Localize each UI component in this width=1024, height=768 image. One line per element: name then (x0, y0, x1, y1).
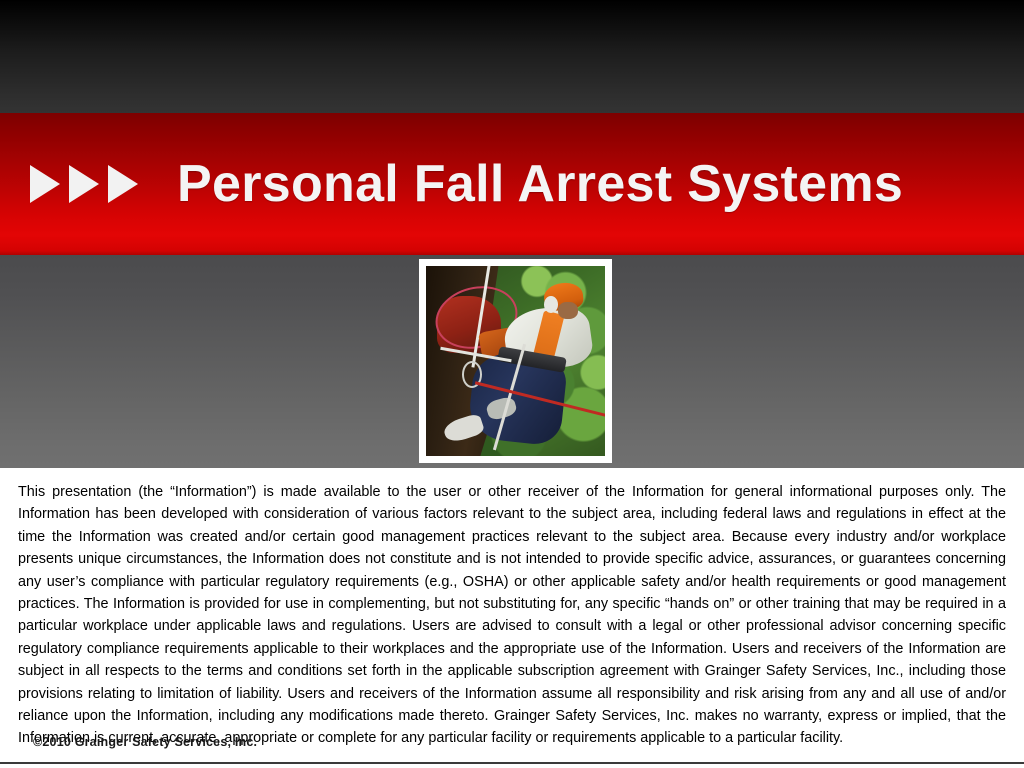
top-dark-strip (0, 0, 1024, 113)
play-triangle-icon (30, 165, 60, 203)
arrow-group (30, 165, 138, 203)
arborist-fall-arrest-photo (426, 266, 605, 456)
hero-photo-frame (419, 259, 612, 463)
worker-face (558, 302, 578, 319)
play-triangle-icon (108, 165, 138, 203)
page-title: Personal Fall Arrest Systems (177, 158, 903, 210)
play-triangle-icon (69, 165, 99, 203)
title-banner: Personal Fall Arrest Systems (0, 113, 1024, 255)
disclaimer-text: This presentation (the “Information”) is… (18, 481, 1006, 750)
presentation-slide: Personal Fall Arrest Systems This presen (0, 0, 1024, 768)
copyright-notice: ©2010 Grainger Safety Services, Inc. (33, 735, 257, 749)
bottom-divider (0, 762, 1024, 764)
